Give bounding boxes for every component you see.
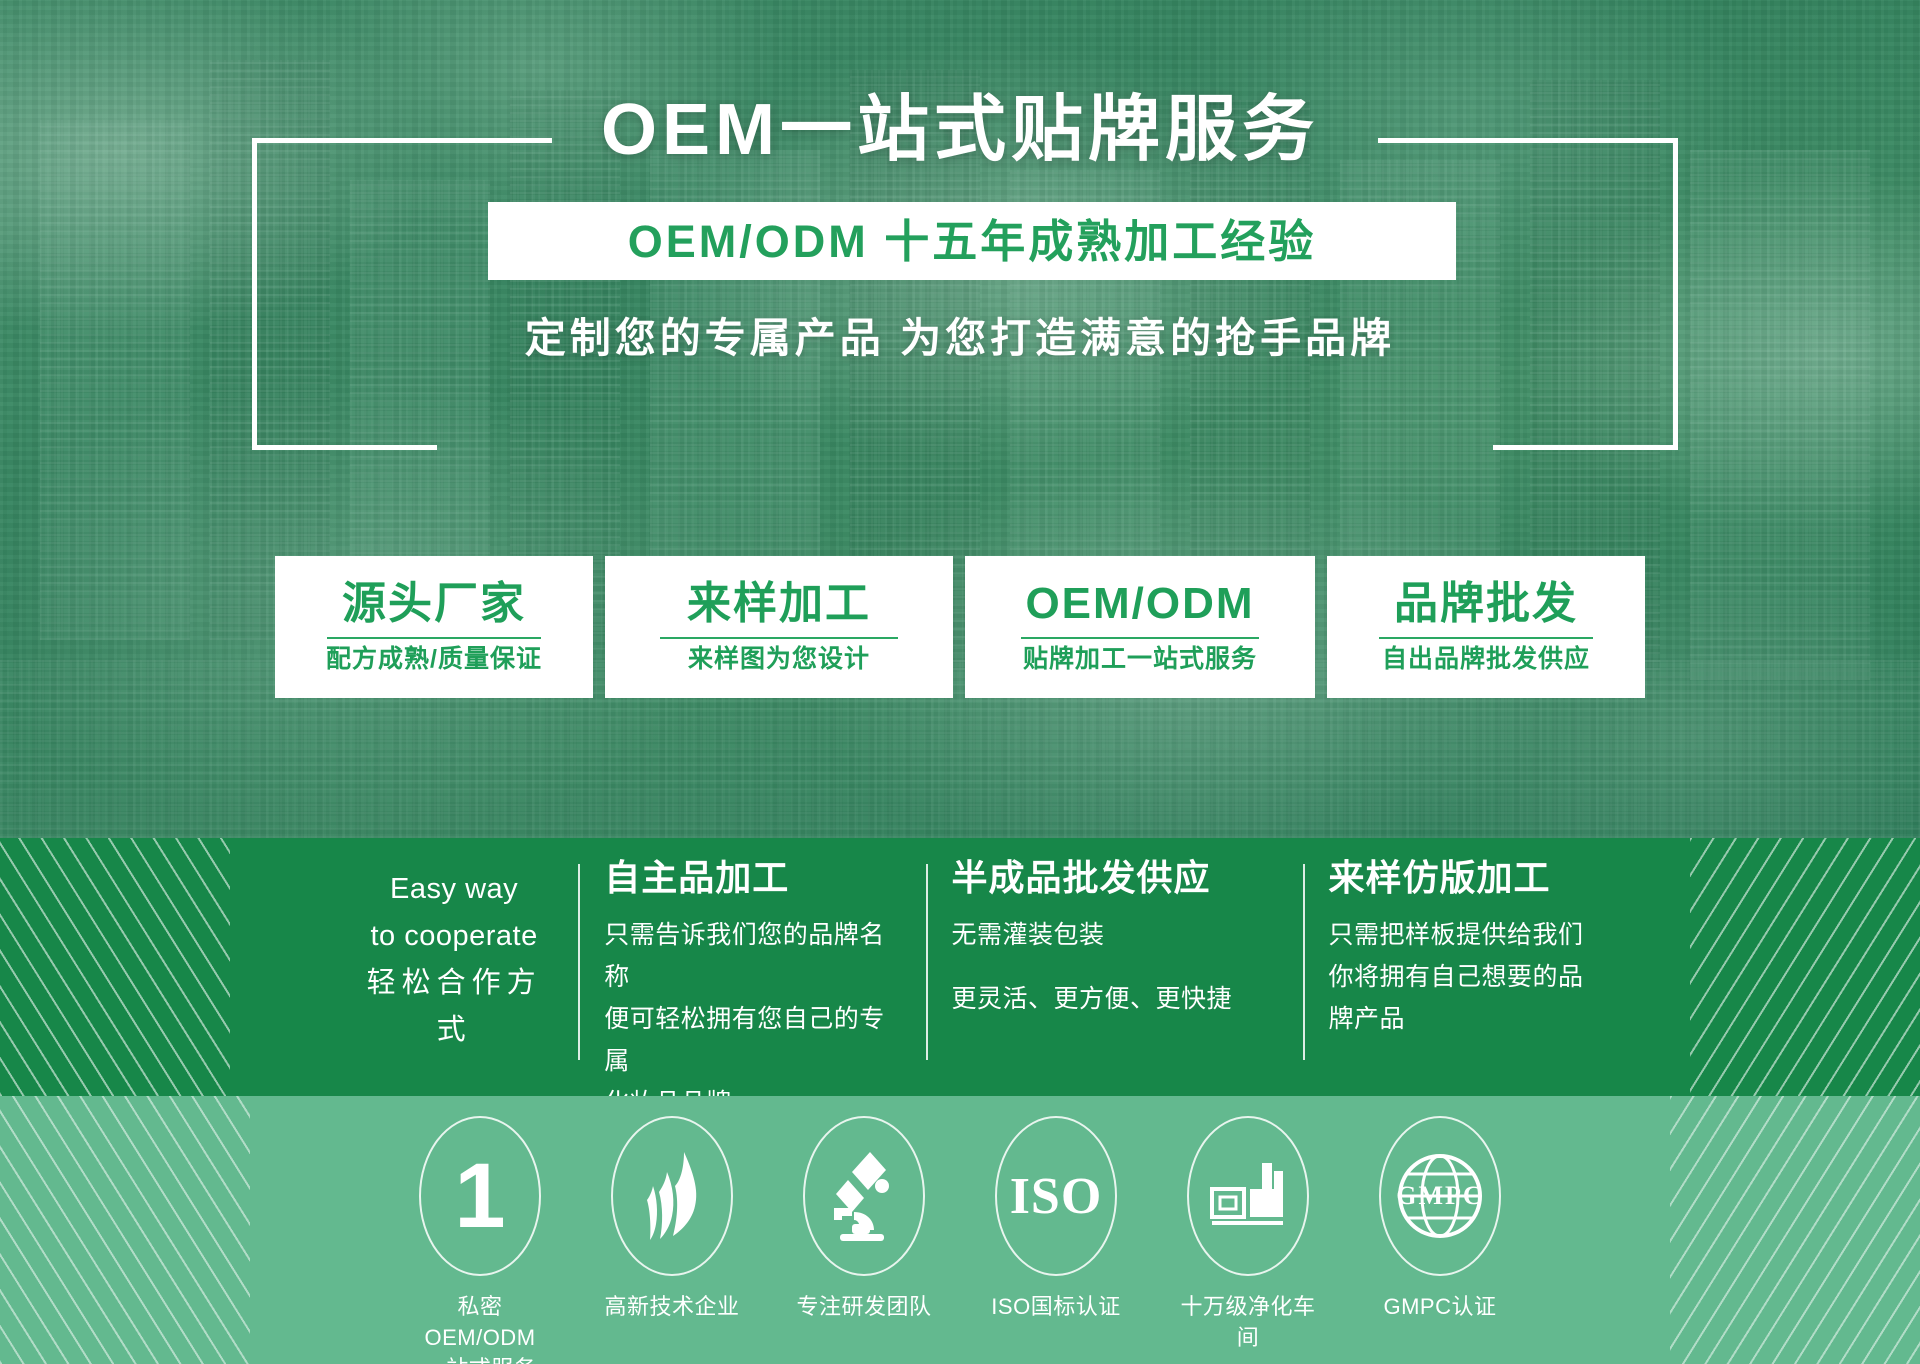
service-line: 牌产品 (1329, 998, 1604, 1040)
hero-highlight-band: OEM/ODM 十五年成熟加工经验 (488, 202, 1456, 280)
feature-card-subtitle: 自出品牌批发供应 (1382, 647, 1590, 672)
badge-caption: GMPC认证 (1383, 1292, 1496, 1323)
number-one-glyph: 1 (454, 1150, 505, 1242)
certification-badge[interactable]: GMPC GMPC认证 (1365, 1116, 1515, 1364)
easy-way-line-1: Easy way (356, 866, 552, 913)
badge-caption: 专注研发团队 (796, 1292, 931, 1323)
service-line: 你将拥有自己想要的品 (1329, 956, 1604, 998)
microscope-glyph (826, 1150, 902, 1242)
feature-card-subtitle: 贴牌加工一站式服务 (1023, 647, 1257, 672)
service-line: 只需告诉我们您的品牌名称 (604, 914, 899, 998)
frame-bottom-right-rule (1493, 445, 1678, 450)
badge-caption: 高新技术企业 (604, 1292, 739, 1323)
globe-gmpc-glyph: GMPC (1388, 1144, 1492, 1248)
feature-card-title: 源头厂家 (342, 580, 526, 628)
certification-badge[interactable]: 十万级净化车间 (1173, 1116, 1323, 1364)
hero-band-text: OEM/ODM 十五年成熟加工经验 (628, 219, 1317, 264)
feature-card-subtitle: 配方成熟/质量保证 (326, 647, 542, 672)
factory-glyph (1210, 1161, 1286, 1231)
service-column-sample-copy[interactable]: 来样仿版加工 只需把样板提供给我们 你将拥有自己想要的品 牌产品 (1303, 860, 1630, 1074)
iso-glyph: ISO (1010, 1167, 1103, 1226)
badge-caption: 十万级净化车间 (1173, 1292, 1323, 1354)
feature-card[interactable]: 来样加工 来样图为您设计 (605, 556, 953, 698)
feature-card-subtitle: 来样图为您设计 (688, 647, 870, 672)
diagonal-hatch-left-decoration (0, 838, 230, 1096)
decorative-frame (252, 138, 1678, 450)
certification-badge[interactable]: 专注研发团队 (789, 1116, 939, 1364)
certification-badge-row: 1 私密OEM/ODM 一站式服务 高新技术企业 (0, 1116, 1920, 1364)
service-line: 更灵活、更方便、更快捷 (952, 978, 1277, 1020)
service-title: 半成品批发供应 (952, 860, 1277, 896)
service-column-semi-finished[interactable]: 半成品批发供应 无需灌装包装 更灵活、更方便、更快捷 (926, 860, 1303, 1074)
certification-badge[interactable]: 1 私密OEM/ODM 一站式服务 (405, 1116, 555, 1364)
service-line: 化妆品品牌 (604, 1082, 899, 1096)
feature-card-title: 品牌批发 (1394, 580, 1578, 628)
hero-section: OEM一站式贴牌服务 OEM/ODM 十五年成熟加工经验 定制您的专属产品 为您… (0, 0, 1920, 838)
hero-subtitle: 定制您的专属产品 为您打造满意的抢手品牌 (0, 318, 1920, 359)
service-line: 无需灌装包装 (952, 914, 1277, 956)
easy-way-line-3: 轻松合作方式 (356, 960, 552, 1054)
feature-card-row: 源头厂家 配方成熟/质量保证 来样加工 来样图为您设计 OEM/ODM 贴牌加工… (0, 556, 1920, 698)
frame-right-edge (1673, 138, 1678, 450)
feature-card-title: 来样加工 (687, 580, 871, 628)
certification-badge[interactable]: ISO ISO国标认证 (981, 1116, 1131, 1364)
number-one-icon: 1 (419, 1116, 541, 1276)
leaf-flame-glyph (637, 1150, 707, 1242)
badge-caption: 私密OEM/ODM 一站式服务 (405, 1292, 555, 1364)
iso-text-icon: ISO (995, 1116, 1117, 1276)
banner-canvas: OEM一站式贴牌服务 OEM/ODM 十五年成熟加工经验 定制您的专属产品 为您… (0, 0, 1920, 1364)
hero-title: OEM一站式贴牌服务 (0, 94, 1920, 166)
factory-icon (1187, 1116, 1309, 1276)
feature-card[interactable]: 品牌批发 自出品牌批发供应 (1327, 556, 1645, 698)
feature-card-divider (327, 637, 541, 639)
feature-card-divider (1021, 637, 1260, 639)
service-column-own-brand[interactable]: 自主品加工 只需告诉我们您的品牌名称 便可轻松拥有您自己的专属 化妆品品牌 (578, 860, 925, 1074)
badge-caption: ISO国标认证 (991, 1292, 1120, 1323)
cooperation-section: Easy way to cooperate 轻松合作方式 自主品加工 只需告诉我… (0, 838, 1920, 1096)
service-line: 便可轻松拥有您自己的专属 (604, 998, 899, 1082)
service-line: 只需把样板提供给我们 (1329, 914, 1604, 956)
diagonal-hatch-right-decoration (1690, 838, 1920, 1096)
cooperation-columns: Easy way to cooperate 轻松合作方式 自主品加工 只需告诉我… (330, 860, 1630, 1074)
feature-card-title: OEM/ODM (1025, 580, 1254, 628)
feature-card[interactable]: 源头厂家 配方成熟/质量保证 (275, 556, 593, 698)
frame-bottom-left-rule (252, 445, 437, 450)
microscope-icon (803, 1116, 925, 1276)
svg-text:GMPC: GMPC (1396, 1181, 1483, 1210)
frame-left-edge (252, 138, 257, 450)
certification-section: 1 私密OEM/ODM 一站式服务 高新技术企业 (0, 1096, 1920, 1364)
certification-badge[interactable]: 高新技术企业 (597, 1116, 747, 1364)
easy-way-column: Easy way to cooperate 轻松合作方式 (330, 860, 578, 1074)
service-title: 自主品加工 (604, 860, 899, 896)
feature-card-divider (1379, 637, 1593, 639)
leaf-flame-icon (611, 1116, 733, 1276)
easy-way-line-2: to cooperate (356, 913, 552, 960)
service-title: 来样仿版加工 (1329, 860, 1604, 896)
feature-card-divider (660, 637, 897, 639)
globe-gmpc-icon: GMPC (1379, 1116, 1501, 1276)
feature-card[interactable]: OEM/ODM 贴牌加工一站式服务 (965, 556, 1315, 698)
